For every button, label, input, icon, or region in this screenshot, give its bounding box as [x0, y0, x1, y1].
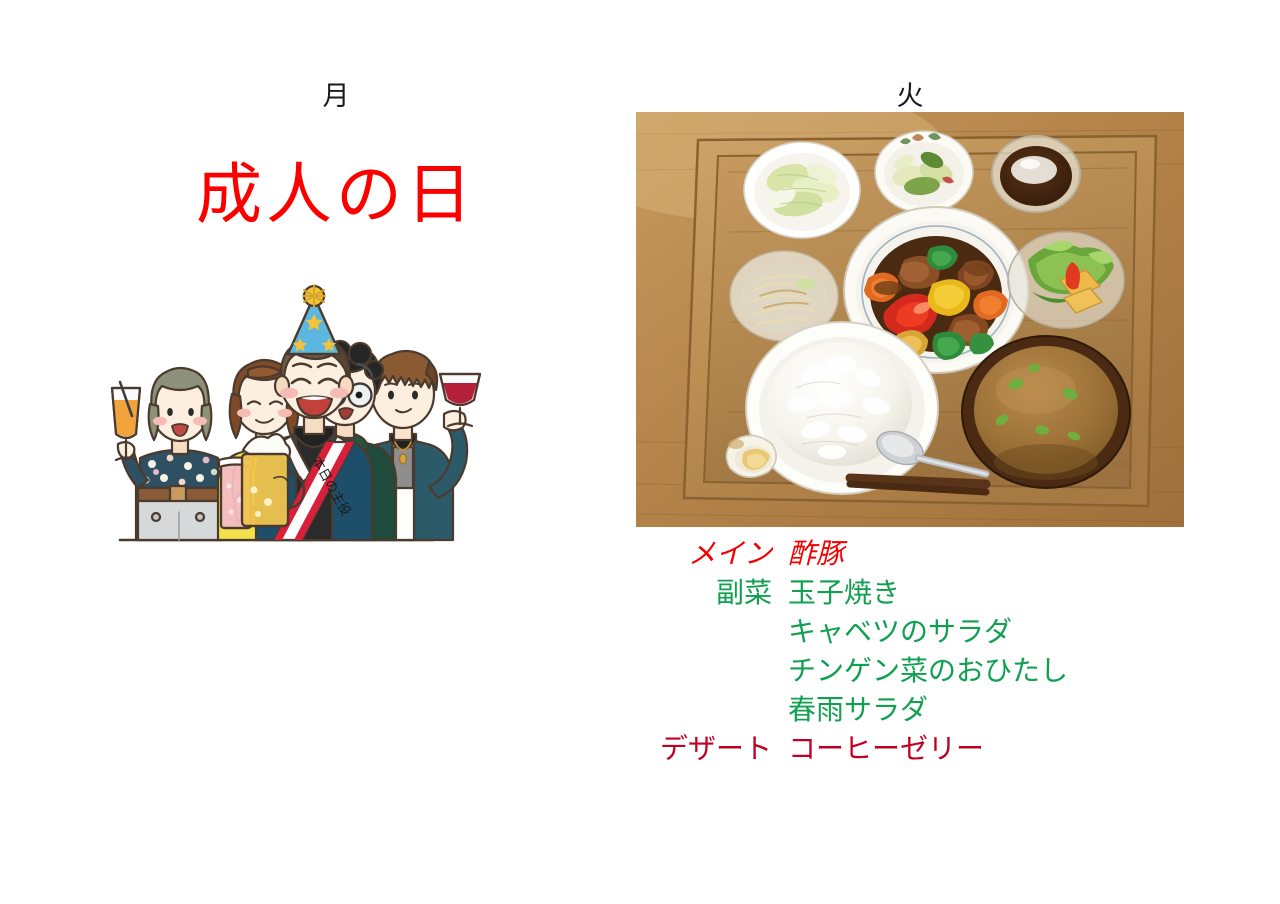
menu-row-side-3: チンゲン菜のおひたし [636, 651, 1184, 690]
menu-value-dessert: コーヒーゼリー [788, 729, 1184, 768]
menu-row-side-2: キャベツのサラダ [636, 612, 1184, 651]
day-header-monday: 月 [236, 83, 436, 110]
meal-photo [636, 112, 1184, 527]
celebration-illustration: 本日の主役 [88, 282, 540, 544]
menu-value-side-2: キャベツのサラダ [788, 612, 1184, 651]
menu-row-dessert: デザート コーヒーゼリー [636, 729, 1184, 768]
menu-value-side-1: 玉子焼き [788, 573, 1184, 612]
menu-row-main: メイン 酢豚 [636, 534, 1184, 573]
menu-label-main: メイン [636, 534, 788, 573]
menu-value-side-3: チンゲン菜のおひたし [788, 651, 1184, 690]
menu-row-side-4: 春雨サラダ [636, 690, 1184, 729]
holiday-title: 成人の日 [118, 160, 554, 229]
menu-row-side-1: 副菜 玉子焼き [636, 573, 1184, 612]
menu-value-main: 酢豚 [788, 534, 1184, 573]
menu-label-dessert: デザート [636, 729, 788, 768]
day-header-tuesday: 火 [810, 83, 1010, 110]
menu-page: 月 火 成人の日 [0, 0, 1280, 904]
menu-list: メイン 酢豚 副菜 玉子焼き キャベツのサラダ チンゲン菜のおひたし 春雨サラダ… [636, 534, 1184, 768]
menu-value-side-4: 春雨サラダ [788, 690, 1184, 729]
menu-label-side: 副菜 [636, 573, 788, 612]
